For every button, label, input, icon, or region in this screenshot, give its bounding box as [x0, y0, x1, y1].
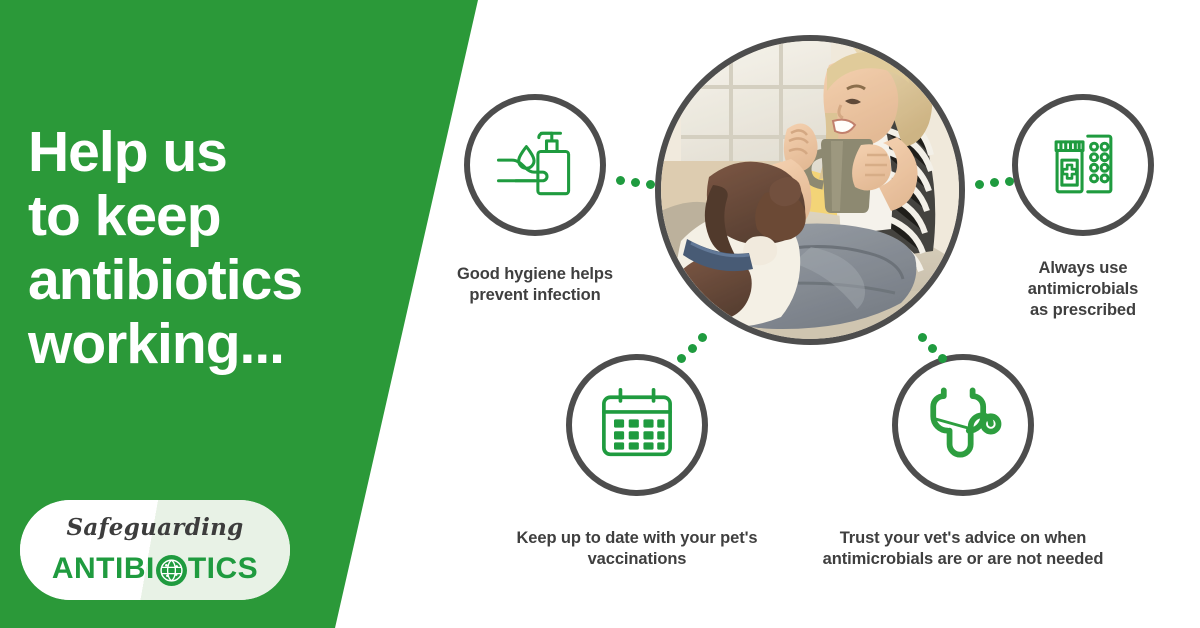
logo-word-left: ANTIBI — [52, 552, 155, 586]
info-node-prescribed: Always use antimicrobials as prescribed — [1012, 94, 1154, 236]
caption-prescribed-line-2: antimicrobials — [988, 279, 1178, 300]
headline-line-3: antibiotics — [28, 248, 408, 312]
stethoscope-icon — [915, 375, 1011, 476]
logo-word-right: TICS — [188, 552, 258, 586]
caption-vaccinations-line-1: Keep up to date with your pet's — [496, 528, 778, 549]
connector-dot — [928, 344, 937, 353]
logo-script-text: Safeguarding — [20, 514, 290, 541]
caption-vaccinations-line-2: vaccinations — [496, 549, 778, 570]
connector-dot — [918, 333, 927, 342]
caption-vet-line-2: antimicrobials are or are not needed — [802, 549, 1124, 570]
calendar-icon — [591, 377, 683, 474]
icon-circle-vaccinations — [566, 354, 708, 496]
woman-with-dog-photo — [655, 35, 965, 345]
icon-circle-vet — [892, 354, 1034, 496]
headline-line-1: Help us — [28, 120, 408, 184]
photo-content — [661, 41, 959, 339]
connector-dot — [677, 354, 686, 363]
caption-vaccinations: Keep up to date with your pet's vaccinat… — [496, 528, 778, 570]
caption-prescribed-line-1: Always use — [988, 258, 1178, 279]
connector-dot — [688, 344, 697, 353]
hand-soap-dispenser-icon — [487, 115, 583, 216]
caption-hygiene-line-1: Good hygiene helps — [436, 264, 634, 285]
logo-wordmark: ANTIBITICS — [20, 552, 290, 586]
caption-prescribed: Always use antimicrobials as prescribed — [988, 258, 1178, 321]
caption-vet: Trust your vet's advice on when antimicr… — [802, 528, 1124, 570]
connector-dot — [646, 180, 655, 189]
info-node-vet: Trust your vet's advice on when antimicr… — [892, 354, 1034, 496]
info-node-vaccinations: Keep up to date with your pet's vaccinat… — [566, 354, 708, 496]
page-title: Help us to keep antibiotics working... — [28, 120, 408, 376]
caption-prescribed-line-3: as prescribed — [988, 300, 1178, 321]
headline-line-4: working... — [28, 312, 408, 376]
infographic-poster: Help us to keep antibiotics working... S… — [0, 0, 1200, 628]
caption-hygiene-line-2: prevent infection — [436, 285, 634, 306]
connector-dot — [990, 178, 999, 187]
caption-vet-line-1: Trust your vet's advice on when — [802, 528, 1124, 549]
icon-circle-prescribed — [1012, 94, 1154, 236]
connector-dot — [698, 333, 707, 342]
connector-dot — [975, 180, 984, 189]
caption-hygiene: Good hygiene helps prevent infection — [436, 264, 634, 306]
info-node-hygiene: Good hygiene helps prevent infection — [464, 94, 606, 236]
antibiotics-globe-icon — [156, 555, 187, 586]
safeguarding-antibiotics-logo: Safeguarding ANTIBITICS — [20, 500, 290, 600]
icon-circle-hygiene — [464, 94, 606, 236]
connector-dot — [938, 354, 947, 363]
connector-dot — [616, 176, 625, 185]
headline-line-2: to keep — [28, 184, 408, 248]
connector-dot — [631, 178, 640, 187]
connector-dot — [1005, 177, 1014, 186]
pill-bottle-blister-pack-icon — [1035, 115, 1131, 216]
